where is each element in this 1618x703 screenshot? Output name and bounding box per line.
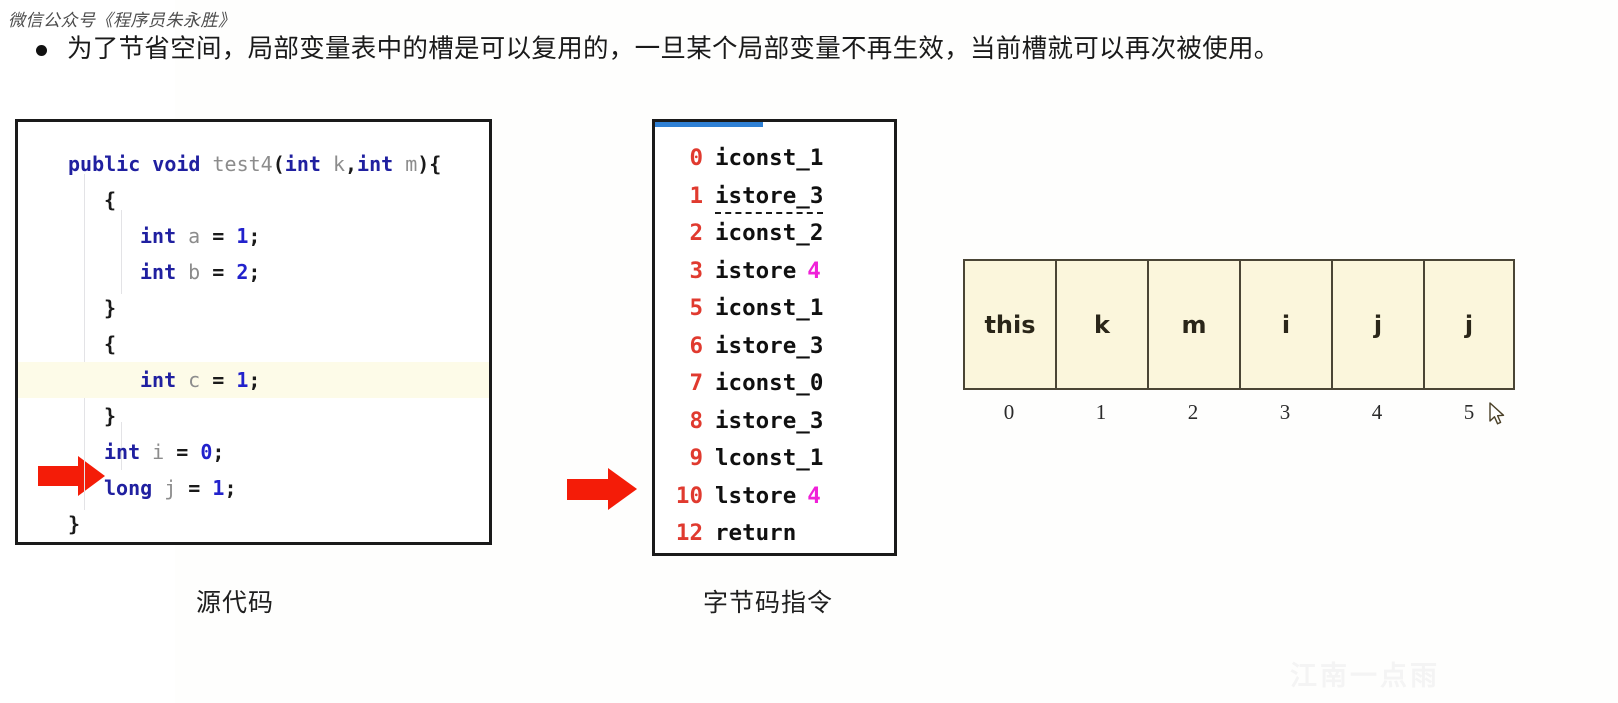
slot-index-label: 4 (1331, 400, 1423, 425)
code-line: int c = 1; (68, 362, 489, 398)
source-code-panel: public void test4(int k,int m){{int a = … (15, 119, 492, 545)
slot-index-label: 0 (963, 400, 1055, 425)
code-token: = (200, 224, 236, 248)
bytecode-offset: 10 (655, 478, 703, 516)
bytecode-row[interactable]: 2iconst_2 (655, 215, 894, 253)
slot-index-label: 3 (1239, 400, 1331, 425)
bytecode-operand: 4 (807, 478, 821, 516)
code-token: 1 (236, 224, 248, 248)
headline: 为了节省空间，局部变量表中的槽是可以复用的，一旦某个局部变量不再生效，当前槽就可… (36, 32, 1280, 66)
slot-cell: k (1055, 259, 1147, 390)
slot-index-row: 012345 (963, 400, 1515, 425)
bytecode-offset: 7 (655, 365, 703, 403)
bytecode-row[interactable]: 5iconst_1 (655, 290, 894, 328)
code-token: int (357, 152, 393, 176)
code-token (321, 152, 333, 176)
bytecode-offset: 3 (655, 253, 703, 291)
bottom-watermark: 江南一点雨 (1290, 654, 1440, 693)
bytecode-panel: 0iconst_11istore_32iconst_23istore45icon… (652, 119, 897, 556)
bytecode-offset: 0 (655, 140, 703, 178)
bytecode-row[interactable]: 1istore_3 (655, 178, 894, 216)
code-token: } (104, 296, 116, 320)
code-token: 2 (236, 260, 248, 284)
code-token: } (68, 512, 80, 536)
slot-cell: j (1331, 259, 1423, 390)
source-code-lines: public void test4(int k,int m){{int a = … (68, 146, 489, 542)
bytecode-operand: 4 (807, 253, 821, 291)
code-token (140, 440, 152, 464)
code-line: { (68, 182, 489, 218)
code-token: i (152, 440, 164, 464)
code-token: ; (248, 260, 260, 284)
code-token: } (104, 404, 116, 428)
code-token: 1 (236, 368, 248, 392)
code-token: = (176, 476, 212, 500)
arrow-shaft (567, 479, 610, 500)
bytecode-opcode: istore (715, 253, 796, 291)
code-token: ( (273, 152, 285, 176)
local-variable-slot-table: thiskmijj (963, 259, 1515, 390)
code-token: test4 (213, 152, 273, 176)
bytecode-caption: 字节码指令 (703, 583, 833, 619)
code-token: public (68, 152, 140, 176)
code-token (140, 152, 152, 176)
bytecode-opcode: iconst_1 (715, 290, 823, 328)
slot-cell: m (1147, 259, 1239, 390)
code-token: { (104, 332, 116, 356)
code-line: int b = 2; (68, 254, 489, 290)
code-token: 1 (212, 476, 224, 500)
bytecode-row[interactable]: 12return (655, 515, 894, 553)
code-line: long j = 1; (68, 470, 489, 506)
bytecode-opcode: iconst_0 (715, 365, 823, 403)
bytecode-row[interactable]: 8istore_3 (655, 403, 894, 441)
code-line: int i = 0; (68, 434, 489, 470)
code-token: k (333, 152, 345, 176)
bytecode-row[interactable]: 3istore4 (655, 253, 894, 291)
bytecode-offset: 8 (655, 403, 703, 441)
code-token: c (188, 368, 200, 392)
bytecode-row[interactable]: 7iconst_0 (655, 365, 894, 403)
bytecode-opcode: istore_3 (715, 403, 823, 441)
bytecode-offset: 1 (655, 178, 703, 216)
code-token: ){ (417, 152, 441, 176)
code-line: public void test4(int k,int m){ (68, 146, 489, 182)
headline-text: 为了节省空间，局部变量表中的槽是可以复用的，一旦某个局部变量不再生效，当前槽就可… (67, 32, 1280, 66)
code-token (200, 152, 212, 176)
bytecode-offset: 9 (655, 440, 703, 478)
code-line: } (68, 398, 489, 434)
bytecode-opcode: istore_3 (715, 178, 823, 216)
bytecode-row[interactable]: 6istore_3 (655, 328, 894, 366)
slot-cell: this (963, 259, 1055, 390)
code-token: a (188, 224, 200, 248)
code-token: ; (224, 476, 236, 500)
code-token (176, 260, 188, 284)
bytecode-opcode: return (715, 515, 796, 553)
code-token: int (104, 440, 140, 464)
bytecode-row[interactable]: 0iconst_1 (655, 140, 894, 178)
slot-cell: j (1423, 259, 1515, 390)
slot-index-label: 2 (1147, 400, 1239, 425)
slot-cell: i (1239, 259, 1331, 390)
code-token: j (164, 476, 176, 500)
bytecode-row[interactable]: 10lstore4 (655, 478, 894, 516)
code-line: { (68, 326, 489, 362)
bytecode-opcode: lstore (715, 478, 796, 516)
code-token: = (164, 440, 200, 464)
bytecode-offset: 2 (655, 215, 703, 253)
source-code-caption: 源代码 (196, 583, 274, 619)
code-token: int (140, 224, 176, 248)
bytecode-offset: 12 (655, 515, 703, 553)
code-token: b (188, 260, 200, 284)
code-token (152, 476, 164, 500)
code-token (176, 224, 188, 248)
bytecode-opcode: iconst_2 (715, 215, 823, 253)
bytecode-instruction-list[interactable]: 0iconst_11istore_32iconst_23istore45icon… (655, 122, 894, 553)
code-token: = (200, 368, 236, 392)
code-line: } (68, 290, 489, 326)
bytecode-row[interactable]: 9lconst_1 (655, 440, 894, 478)
code-token: ; (248, 368, 260, 392)
wechat-account-label: 微信公众号《程序员朱永胜》 (8, 6, 236, 31)
slot-index-label: 1 (1055, 400, 1147, 425)
code-token: int (140, 368, 176, 392)
code-token: int (285, 152, 321, 176)
code-token: ; (212, 440, 224, 464)
bytecode-opcode: lconst_1 (715, 440, 823, 478)
code-token: , (345, 152, 357, 176)
code-line: } (68, 506, 489, 542)
code-token: ; (248, 224, 260, 248)
bytecode-offset: 5 (655, 290, 703, 328)
mouse-cursor-icon (1489, 402, 1507, 426)
code-token: m (405, 152, 417, 176)
code-token: void (152, 152, 200, 176)
source-code-editor[interactable]: public void test4(int k,int m){{int a = … (18, 122, 489, 542)
code-token: long (104, 476, 152, 500)
code-token: { (104, 188, 116, 212)
code-token (176, 368, 188, 392)
code-token: int (140, 260, 176, 284)
code-token: = (200, 260, 236, 284)
bytecode-opcode: istore_3 (715, 328, 823, 366)
bytecode-offset: 6 (655, 328, 703, 366)
code-token: 0 (200, 440, 212, 464)
code-line: int a = 1; (68, 218, 489, 254)
bullet-dot-icon (36, 45, 47, 56)
arrow-head (608, 468, 637, 510)
code-token (393, 152, 405, 176)
bytecode-opcode: iconst_1 (715, 140, 823, 178)
